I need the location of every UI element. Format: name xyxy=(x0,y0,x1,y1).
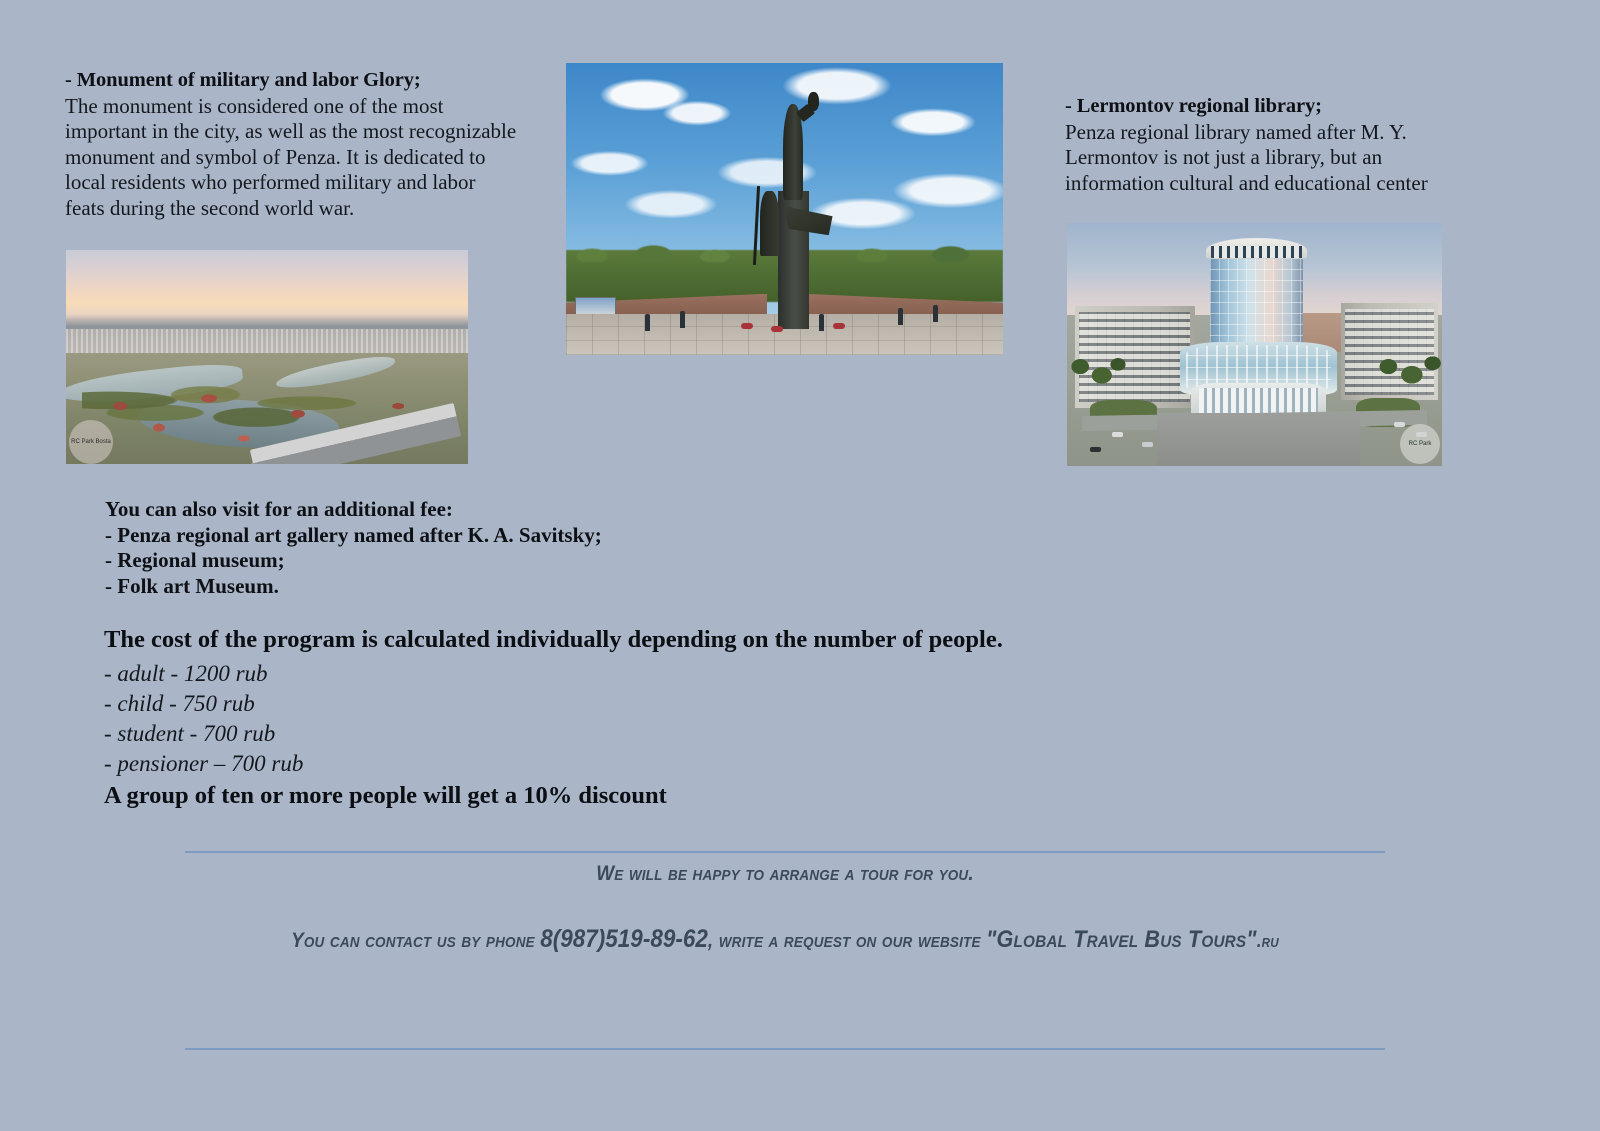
monument-heading: - Monument of military and labor Glory; xyxy=(65,68,520,94)
website-name[interactable]: "Global Travel Bus Tours" xyxy=(986,926,1257,953)
visitor-figure xyxy=(645,314,650,331)
tour-program-page: - Monument of military and labor Glory; … xyxy=(0,0,1600,1131)
flower-wreath xyxy=(771,326,783,332)
parked-car xyxy=(1112,432,1123,437)
visitor-figure xyxy=(680,311,685,328)
visitor-figure xyxy=(933,305,938,322)
footer-tagline: We will be happy to arrange a tour for y… xyxy=(79,862,1492,886)
pricing-block: The cost of the program is calculated in… xyxy=(104,625,1204,811)
trees-left xyxy=(1067,349,1127,393)
parked-car xyxy=(1142,442,1153,447)
trees-right xyxy=(1375,345,1443,394)
price-line-adult: - adult - 1200 rub xyxy=(104,659,1204,689)
library-text-block: - Lermontov regional library; Penza regi… xyxy=(1065,94,1470,196)
flower-wreath xyxy=(741,323,753,329)
price-line-pensioner: - pensioner – 700 rub xyxy=(104,749,1204,779)
price-line-child: - child - 750 rub xyxy=(104,689,1204,719)
additional-fee-title: You can also visit for an additional fee… xyxy=(105,497,925,523)
parked-car xyxy=(1090,447,1101,452)
additional-fee-item: - Regional museum; xyxy=(105,548,925,574)
price-line-student: - student - 700 rub xyxy=(104,719,1204,749)
entrance-plaza xyxy=(1157,413,1360,466)
website-tld[interactable]: .ru xyxy=(1257,931,1279,952)
library-photo-inner xyxy=(1067,223,1442,466)
monument-photo-inner xyxy=(566,63,1003,355)
monument-body: The monument is considered one of the mo… xyxy=(65,94,520,222)
additional-fee-item: - Penza regional art gallery named after… xyxy=(105,523,925,549)
watermark-library-label: RC Park xyxy=(1409,441,1432,448)
library-heading: - Lermontov regional library; xyxy=(1065,94,1470,120)
parked-car xyxy=(1394,422,1405,427)
contact-middle: , write a request on our website xyxy=(708,929,986,952)
visitor-figure xyxy=(819,314,824,331)
soldier-statue xyxy=(760,191,778,255)
child-statue xyxy=(808,92,818,111)
penza-cityscape-photo: RC Park Bosta xyxy=(66,250,468,464)
watermark-city-label: RC Park Bosta xyxy=(71,439,111,446)
library-photo: RC Park xyxy=(1067,223,1442,466)
glass-tower xyxy=(1210,245,1304,347)
contact-prefix: You can contact us by phone xyxy=(291,929,540,952)
divider-bottom xyxy=(185,1048,1385,1050)
divider-top xyxy=(185,851,1385,853)
flower-wreath xyxy=(833,323,845,329)
monument-photo xyxy=(566,63,1003,355)
watermark-logo-icon: RC Park Bosta xyxy=(69,420,113,464)
monument-text-block: - Monument of military and labor Glory; … xyxy=(65,68,520,221)
library-colonnade-base xyxy=(1191,383,1326,415)
visitor-figure xyxy=(898,308,903,325)
additional-fee-item: - Folk art Museum. xyxy=(105,574,925,600)
cityscape-photo-inner xyxy=(66,250,468,464)
contact-phone[interactable]: 8(987)519-89-62 xyxy=(540,925,708,953)
group-discount-note: A group of ten or more people will get a… xyxy=(104,781,1204,811)
watermark-logo-icon: RC Park xyxy=(1400,424,1440,464)
additional-fee-block: You can also visit for an additional fee… xyxy=(105,497,925,599)
footer-contact-line: You can contact us by phone 8(987)519-89… xyxy=(79,925,1492,954)
tower-crown xyxy=(1206,238,1307,260)
pricing-title: The cost of the program is calculated in… xyxy=(104,625,1204,655)
library-body: Penza regional library named after M. Y.… xyxy=(1065,120,1470,197)
